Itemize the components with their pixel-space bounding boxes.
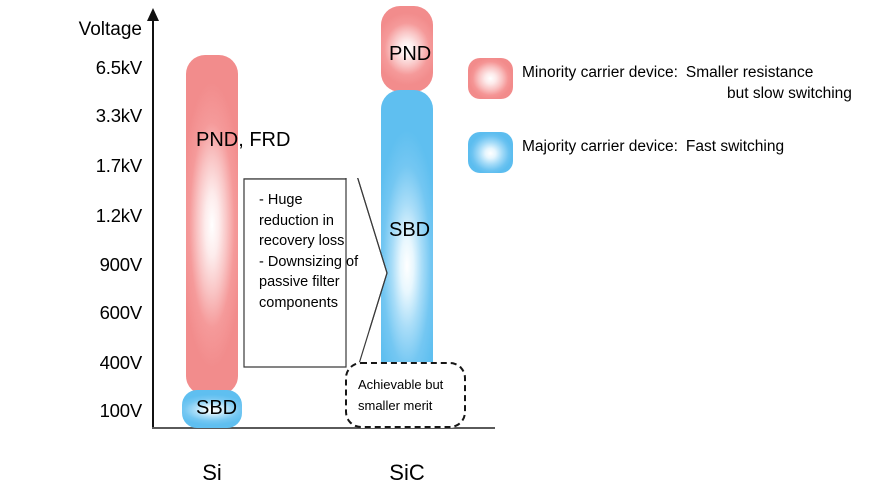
si-minority-carrier-bar-label: PND, FRD: [196, 129, 290, 152]
legend-minority-text: Minority carrier device:Smaller resistan…: [522, 63, 852, 105]
legend-minority-value-line1: Smaller resistance: [678, 63, 814, 84]
legend-swatch-pink-icon: [468, 58, 513, 99]
x-category-sic: SiC: [377, 460, 437, 486]
si-minority-carrier-bar[interactable]: [186, 55, 238, 395]
y-tick-100v: 100V: [100, 400, 142, 422]
si-majority-carrier-bar-label: SBD: [196, 397, 237, 420]
y-tick-600v: 600V: [100, 302, 142, 324]
y-tick-3-3kv: 3.3kV: [96, 105, 142, 127]
benefit-callout-text: - Huge reduction in recovery loss - Down…: [259, 190, 359, 313]
y-tick-400v: 400V: [100, 352, 142, 374]
y-tick-1-7kv: 1.7kV: [96, 155, 142, 177]
legend-majority-value-line1: Fast switching: [678, 137, 784, 158]
y-axis-line: [152, 18, 154, 429]
sic-majority-carrier-bar-label: SBD: [389, 219, 430, 242]
y-tick-900v: 900V: [100, 254, 142, 276]
y-axis-title: Voltage: [79, 19, 142, 41]
y-tick-6-5kv: 6.5kV: [96, 57, 142, 79]
benefit-callout: - Huge reduction in recovery loss - Down…: [243, 178, 388, 368]
y-axis-labels: Voltage 6.5kV 3.3kV 1.7kV 1.2kV 900V 600…: [0, 0, 142, 498]
sic-minority-carrier-bar-label: PND: [389, 43, 431, 66]
legend-majority-name: Majority carrier device:: [522, 138, 678, 155]
legend-minority-value-line2: but slow switching: [522, 84, 852, 105]
diagram-canvas: Voltage 6.5kV 3.3kV 1.7kV 1.2kV 900V 600…: [0, 0, 882, 498]
achievable-note-text: Achievable but smaller merit: [358, 374, 456, 416]
legend-majority-text: Majority carrier device:Fast switching: [522, 137, 784, 158]
legend-minority-name: Minority carrier device:: [522, 64, 678, 81]
x-category-si: Si: [182, 460, 242, 486]
legend-swatch-blue-icon: [468, 132, 513, 173]
y-axis-arrowhead-icon: [147, 8, 159, 21]
y-tick-1-2kv: 1.2kV: [96, 205, 142, 227]
achievable-note: Achievable but smaller merit: [345, 362, 466, 428]
